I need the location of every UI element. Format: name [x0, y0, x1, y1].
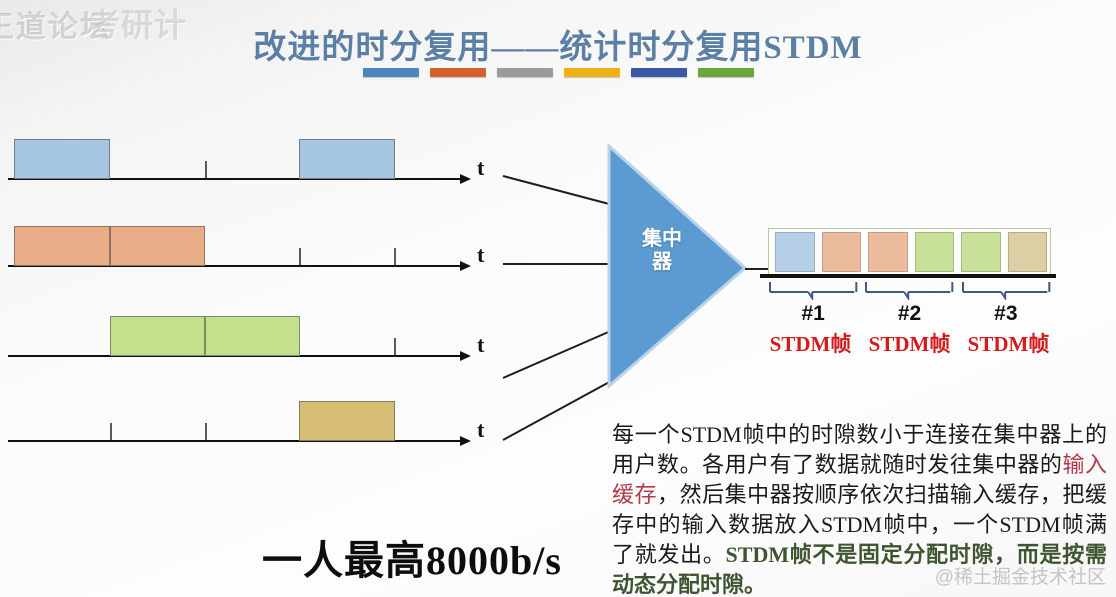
timeline-block: [299, 139, 395, 179]
timeline-block: [110, 226, 205, 266]
timeline-user-1: t: [0, 178, 500, 179]
stdm-cell-1: [775, 232, 815, 272]
stdm-cell-6: [1008, 232, 1048, 272]
stdm-cell-4: [915, 232, 955, 272]
timeline-block: [299, 401, 395, 441]
timeline-axis-arrow-icon: [460, 174, 471, 184]
timeline-axis-arrow-icon: [460, 436, 471, 446]
slide-canvas: 王道论坛 考研计 @稀土掘金技术社区 改进的时分复用——统计时分复用STDM t…: [0, 0, 1116, 597]
stdm-cell-2: [822, 232, 862, 272]
timeline-axis-arrow-icon: [460, 261, 471, 271]
timeline-axis-label: t: [477, 242, 484, 268]
stdm-frame-label-3: STDM帧: [960, 328, 1057, 358]
frame-number-2: #2: [864, 302, 954, 326]
frame-number-3: #3: [961, 302, 1051, 326]
timeline-block: [205, 316, 300, 356]
brace-3: [961, 280, 1051, 300]
title-bar-gray: [497, 68, 553, 77]
paragraph-part-1: 每一个STDM帧中的时隙数小于连接在集中器上的用户数。各用户有了数据就随时发往集…: [612, 422, 1107, 477]
timeline-block: [110, 316, 205, 356]
timeline-tick: [394, 338, 396, 355]
stdm-cell-3: [868, 232, 908, 272]
timeline-block: [14, 139, 110, 179]
timeline-tick: [110, 423, 112, 440]
stdm-cell-5: [961, 232, 1001, 272]
title-bar-orange: [430, 68, 486, 77]
title-bar-darkblue: [631, 68, 687, 77]
timeline-tick: [394, 248, 396, 265]
stdm-frame-baseline: [760, 274, 1056, 278]
brace-1: [768, 280, 858, 300]
title-bar-blue: [363, 68, 419, 77]
title-decoration-bars: [0, 68, 1116, 77]
frame-number-1: #1: [768, 302, 858, 326]
stdm-frame-labels: STDM帧 STDM帧 STDM帧: [762, 328, 1057, 358]
timeline-user-2: t: [0, 265, 500, 266]
stdm-frame-label-1: STDM帧: [762, 328, 859, 358]
timeline-axis-label: t: [477, 417, 484, 443]
timeline-user-4: t: [0, 440, 500, 441]
brace-2: [864, 280, 954, 300]
stdm-frame-numbers: #1 #2 #3: [768, 302, 1051, 326]
timeline-tick: [205, 161, 207, 178]
description-paragraph: 每一个STDM帧中的时隙数小于连接在集中器上的用户数。各用户有了数据就随时发往集…: [612, 420, 1107, 597]
timeline-user-3: t: [0, 355, 500, 356]
timeline-axis-label: t: [477, 332, 484, 358]
stdm-frame-braces: [768, 280, 1051, 302]
timeline-tick: [205, 423, 207, 440]
stdm-frame-strip: [768, 228, 1051, 276]
concentrator-label: 集中器: [641, 228, 683, 274]
timeline-tick: [299, 248, 301, 265]
slide-title: 改进的时分复用——统计时分复用STDM: [0, 20, 1116, 68]
timeline-block: [14, 226, 110, 266]
timeline-axis-label: t: [477, 155, 484, 181]
title-bar-yellow: [564, 68, 620, 77]
concentrator-shape: 集中器: [605, 142, 755, 390]
title-bar-green: [698, 68, 754, 77]
timeline-axis-arrow-icon: [460, 351, 471, 361]
stdm-frame-label-2: STDM帧: [861, 328, 958, 358]
bottom-note: 一人最高8000b/s: [262, 528, 562, 586]
